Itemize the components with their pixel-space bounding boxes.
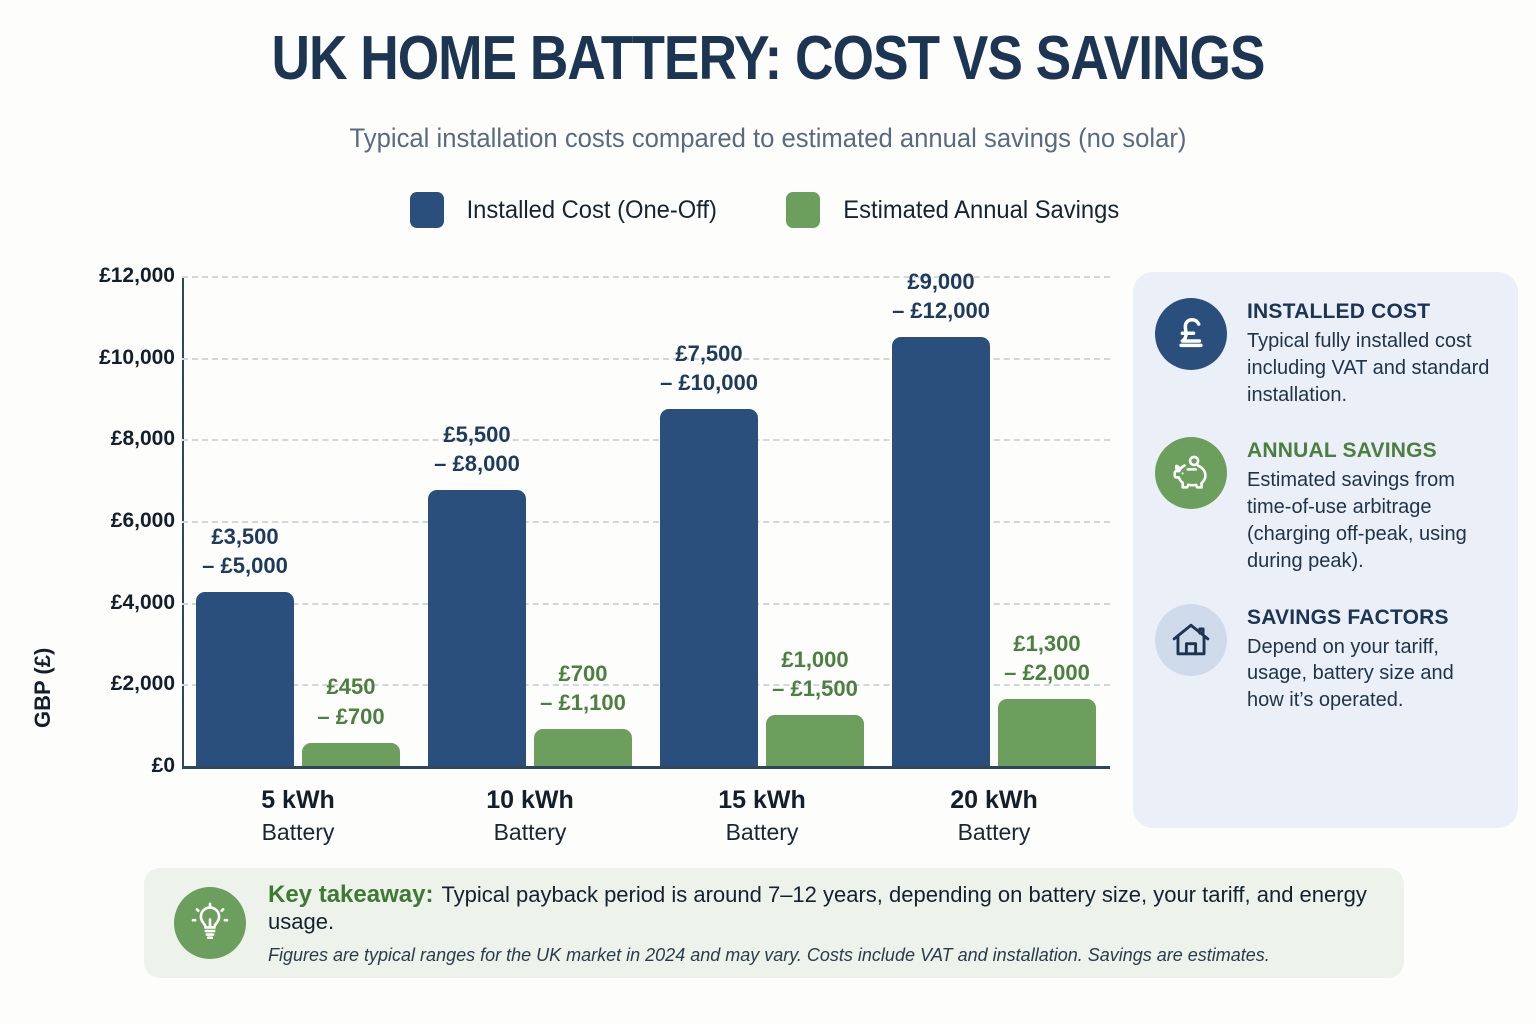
info-card-title: INSTALLED COST <box>1247 300 1496 324</box>
x-axis-category-label: 15 kWhBattery <box>662 786 862 846</box>
bar-value-range-low: £700 <box>512 659 654 688</box>
bar-value-range-high: – £5,000 <box>174 551 316 580</box>
plot-area: £3,500– £5,000£450– £700£5,500– £8,000£7… <box>182 276 1110 766</box>
legend-item-cost[interactable]: Installed Cost (One-Off) <box>410 192 724 228</box>
y-tick-label: £10,000 <box>45 346 175 370</box>
bar-value-range-low: £3,500 <box>174 522 316 551</box>
bar-annual-savings[interactable] <box>302 743 400 766</box>
info-card-body: Estimated savings from time-of-use arbit… <box>1247 467 1496 574</box>
y-axis-ticks: £0£2,000£4,000£6,000£8,000£10,000£12,000 <box>35 258 175 778</box>
category-name: 5 kWh <box>198 786 398 815</box>
bar-value-label: £700– £1,100 <box>512 659 654 717</box>
bar-value-label: £450– £700 <box>280 672 422 730</box>
x-axis-line <box>182 766 1110 769</box>
legend-label-cost: Installed Cost (One-Off) <box>467 196 717 225</box>
square-swatch-icon <box>410 192 444 228</box>
house-icon <box>1155 604 1227 676</box>
bar-value-label: £7,500– £10,000 <box>638 339 780 397</box>
chart-legend: Installed Cost (One-Off) Estimated Annua… <box>0 192 1536 228</box>
category-sub: Battery <box>662 819 862 846</box>
bar-value-range-low: £5,500 <box>406 420 548 449</box>
info-cards-panel: INSTALLED COSTTypical fully installed co… <box>1133 272 1518 828</box>
bar-value-range-high: – £12,000 <box>870 296 1012 325</box>
takeaway-label: Key takeaway: <box>268 881 433 908</box>
bar-value-range-high: – £2,000 <box>976 658 1118 687</box>
bar-value-range-low: £1,000 <box>744 645 886 674</box>
info-card: ANNUAL SAVINGSEstimated savings from tim… <box>1155 437 1496 574</box>
x-axis-category-label: 5 kWhBattery <box>198 786 398 846</box>
bar-value-label: £3,500– £5,000 <box>174 522 316 580</box>
x-axis-category-label: 20 kWhBattery <box>894 786 1094 846</box>
y-tick-label: £0 <box>45 754 175 778</box>
bar-value-range-high: – £10,000 <box>638 368 780 397</box>
info-card-title: ANNUAL SAVINGS <box>1247 439 1496 463</box>
bar-value-range-low: £7,500 <box>638 339 780 368</box>
bar-annual-savings[interactable] <box>998 699 1096 766</box>
y-tick-label: £6,000 <box>45 509 175 533</box>
page-title: UK HOME BATTERY: COST VS SAVINGS <box>108 26 1429 91</box>
bar-value-label: £1,300– £2,000 <box>976 629 1118 687</box>
category-name: 10 kWh <box>430 786 630 815</box>
bar-value-label: £9,000– £12,000 <box>870 267 1012 325</box>
y-tick-label: £12,000 <box>45 264 175 288</box>
bar-value-label: £1,000– £1,500 <box>744 645 886 703</box>
legend-item-savings[interactable]: Estimated Annual Savings <box>786 192 1126 228</box>
info-card: INSTALLED COSTTypical fully installed co… <box>1155 298 1496 408</box>
takeaway-footnote: Figures are typical ranges for the UK ma… <box>268 945 1374 966</box>
bar-value-range-low: £1,300 <box>976 629 1118 658</box>
bar-annual-savings[interactable] <box>534 729 632 766</box>
category-sub: Battery <box>198 819 398 846</box>
bar-value-range-high: – £1,500 <box>744 674 886 703</box>
bar-group: £3,500– £5,000£450– £700 <box>196 276 400 766</box>
info-card-body: Typical fully installed cost including V… <box>1247 328 1496 408</box>
category-sub: Battery <box>894 819 1094 846</box>
bar-chart: GBP (£) £0£2,000£4,000£6,000£8,000£10,00… <box>0 258 1130 778</box>
y-tick-label: £8,000 <box>45 427 175 451</box>
info-card-body: Depend on your tariff, usage, battery si… <box>1247 634 1496 714</box>
category-name: 15 kWh <box>662 786 862 815</box>
bar-annual-savings[interactable] <box>766 715 864 766</box>
piggy-bank-icon <box>1155 437 1227 509</box>
category-name: 20 kWh <box>894 786 1094 815</box>
bar-value-label: £5,500– £8,000 <box>406 420 548 478</box>
info-card: SAVINGS FACTORSDepend on your tariff, us… <box>1155 604 1496 714</box>
y-tick-label: £2,000 <box>45 672 175 696</box>
infographic-page: UK HOME BATTERY: COST VS SAVINGS Typical… <box>0 0 1536 1024</box>
x-axis-category-label: 10 kWhBattery <box>430 786 630 846</box>
category-sub: Battery <box>430 819 630 846</box>
lightbulb-icon <box>174 887 246 959</box>
bar-value-range-high: – £700 <box>280 702 422 731</box>
y-tick-label: £4,000 <box>45 591 175 615</box>
bar-installed-cost[interactable] <box>660 409 758 766</box>
bar-value-range-low: £450 <box>280 672 422 701</box>
info-card-title: SAVINGS FACTORS <box>1247 606 1496 630</box>
bar-value-range-high: – £8,000 <box>406 449 548 478</box>
bar-group: £9,000– £12,000£1,300– £2,000 <box>892 276 1096 766</box>
bar-installed-cost[interactable] <box>428 490 526 766</box>
bar-value-range-low: £9,000 <box>870 267 1012 296</box>
bar-group: £5,500– £8,000£700– £1,100 <box>428 276 632 766</box>
takeaway-main-line: Key takeaway:Typical payback period is a… <box>268 881 1374 935</box>
legend-label-savings: Estimated Annual Savings <box>843 196 1119 225</box>
pound-sterling-icon <box>1155 298 1227 370</box>
bar-installed-cost[interactable] <box>892 337 990 766</box>
bar-value-range-high: – £1,100 <box>512 688 654 717</box>
bar-group: £7,500– £10,000£1,000– £1,500 <box>660 276 864 766</box>
square-swatch-icon <box>786 192 820 228</box>
page-subtitle: Typical installation costs compared to e… <box>38 123 1497 154</box>
key-takeaway-banner: Key takeaway:Typical payback period is a… <box>144 868 1404 978</box>
